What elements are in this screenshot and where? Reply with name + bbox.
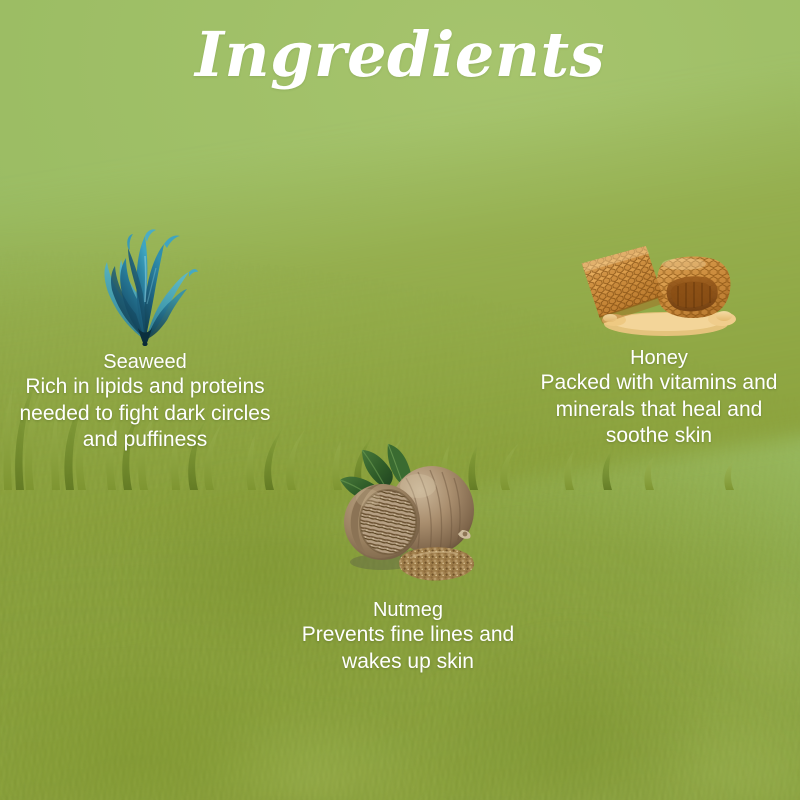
- nutmeg-icon: [318, 438, 498, 588]
- seaweed-name: Seaweed: [0, 350, 290, 374]
- ingredient-card-honey: Honey Packed with vitamins and minerals …: [518, 228, 800, 450]
- seaweed-description-line-1: Rich in lipids and proteins: [0, 374, 290, 400]
- nutmeg-description-line-2: wakes up skin: [258, 649, 558, 675]
- nutmeg-description: Prevents fine lines and wakes up skin: [258, 622, 558, 675]
- ingredient-card-nutmeg: Nutmeg Prevents fine lines and wakes up …: [258, 438, 558, 675]
- honey-name: Honey: [518, 346, 800, 370]
- honey-description-line-1: Packed with vitamins and: [518, 370, 800, 396]
- honey-caption: Honey Packed with vitamins and minerals …: [518, 346, 800, 450]
- seaweed-description-line-2: needed to fight dark circles: [0, 401, 290, 427]
- honey-description-line-2: minerals that heal and: [518, 397, 800, 423]
- seaweed-description: Rich in lipids and proteins needed to fi…: [0, 374, 290, 453]
- seaweed-description-line-3: and puffiness: [0, 427, 290, 453]
- honey-description-line-3: soothe skin: [518, 423, 800, 449]
- nutmeg-name: Nutmeg: [258, 598, 558, 622]
- ingredient-card-seaweed: Seaweed Rich in lipids and proteins need…: [0, 228, 290, 454]
- page-title: Ingredients: [0, 22, 800, 87]
- nutmeg-caption: Nutmeg Prevents fine lines and wakes up …: [258, 598, 558, 675]
- seaweed-caption: Seaweed Rich in lipids and proteins need…: [0, 350, 290, 454]
- honey-description: Packed with vitamins and minerals that h…: [518, 370, 800, 449]
- honeycomb-icon: [574, 228, 744, 340]
- seaweed-icon: [90, 228, 200, 346]
- nutmeg-description-line-1: Prevents fine lines and: [258, 622, 558, 648]
- ingredients-infographic: Ingredients: [0, 0, 800, 800]
